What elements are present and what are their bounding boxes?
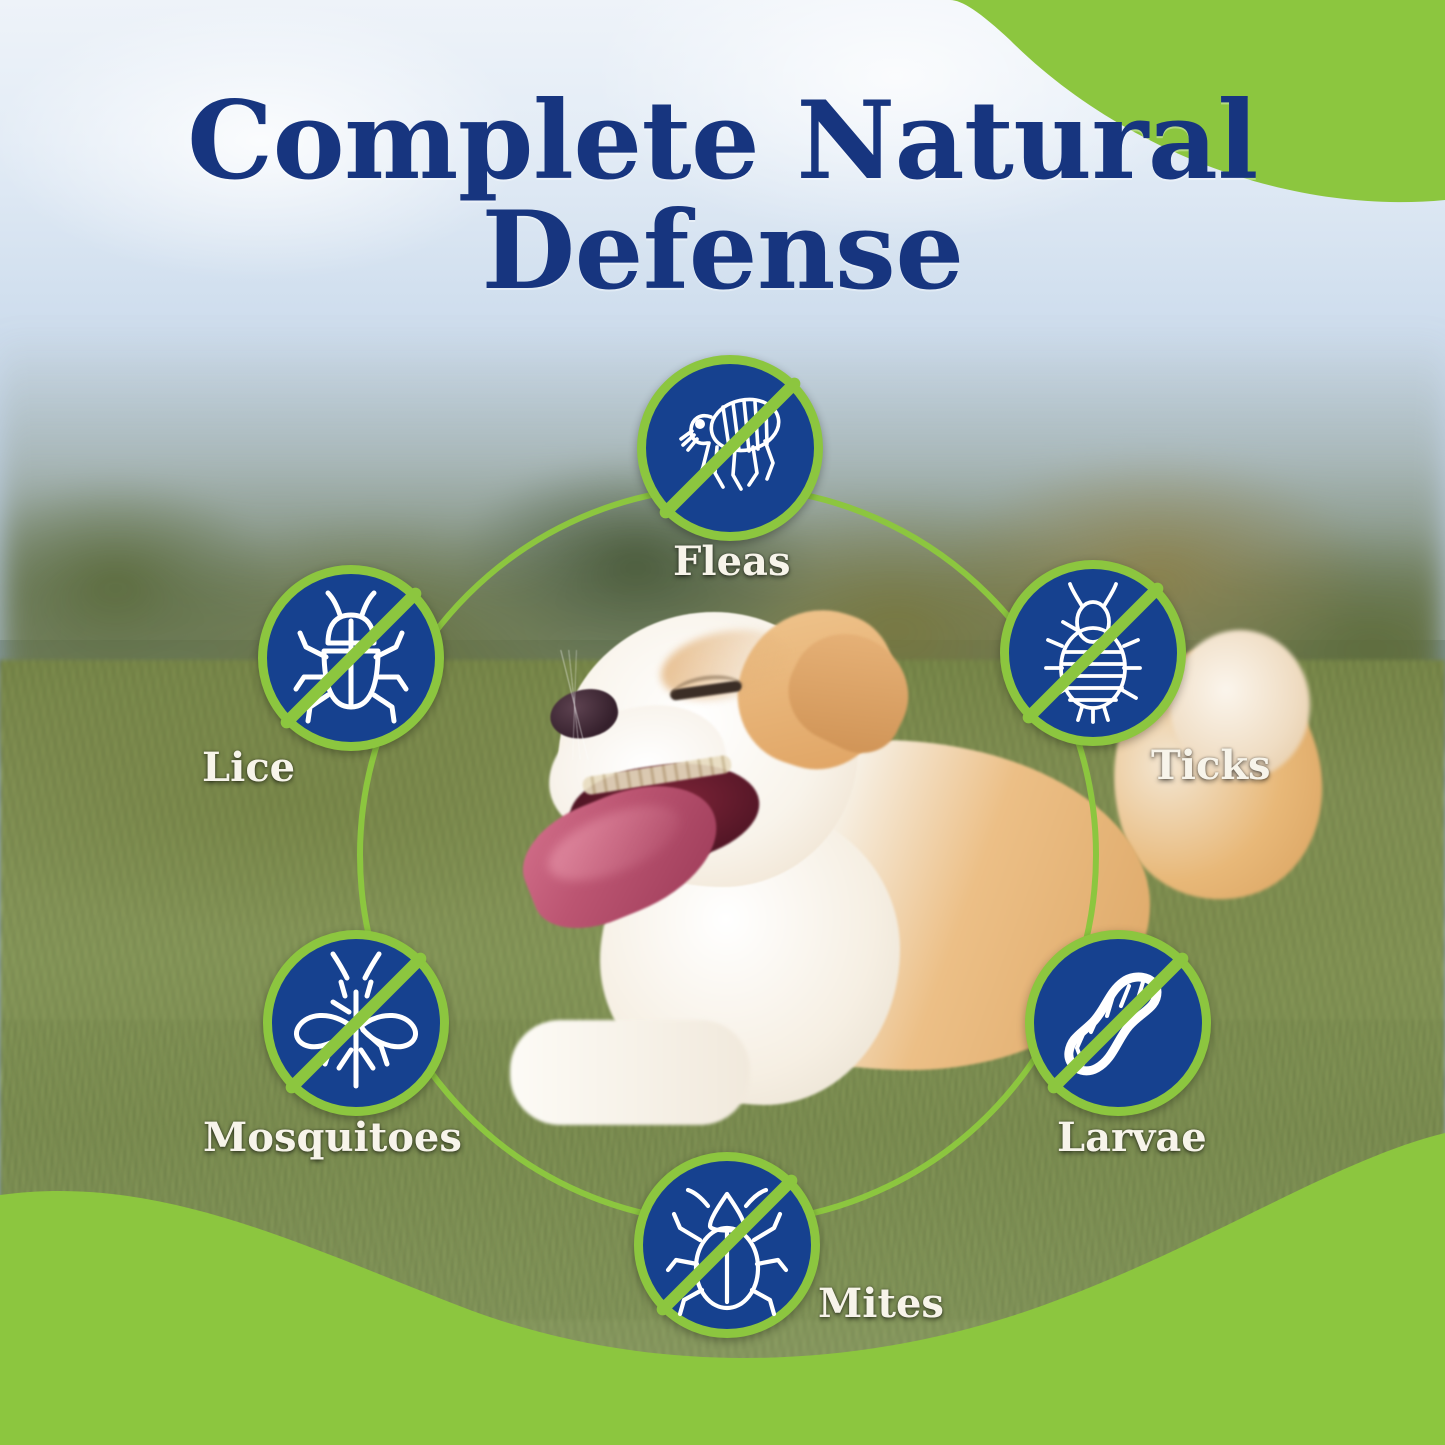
pest-label-larvae: Larvae	[1057, 1114, 1207, 1161]
product-infographic-poster: Complete Natural Defense Fleas	[0, 0, 1445, 1445]
pest-badge-ticks[interactable]	[1000, 560, 1186, 746]
pest-label-ticks: Ticks	[1151, 742, 1271, 789]
pest-label-mosquitoes: Mosquitoes	[203, 1114, 462, 1161]
pest-badge-mites[interactable]	[634, 1152, 820, 1338]
pest-label-mites: Mites	[818, 1280, 944, 1327]
pest-label-lice: Lice	[202, 744, 295, 791]
page-title: Complete Natural Defense	[0, 86, 1445, 306]
title-line-2: Defense	[0, 196, 1445, 306]
title-line-1: Complete Natural	[187, 78, 1258, 204]
pest-label-fleas: Fleas	[673, 538, 790, 585]
pest-badge-fleas[interactable]	[637, 355, 823, 541]
pest-badge-mosquitoes[interactable]	[263, 930, 449, 1116]
pest-badge-larvae[interactable]	[1025, 930, 1211, 1116]
pest-badge-lice[interactable]	[258, 565, 444, 751]
